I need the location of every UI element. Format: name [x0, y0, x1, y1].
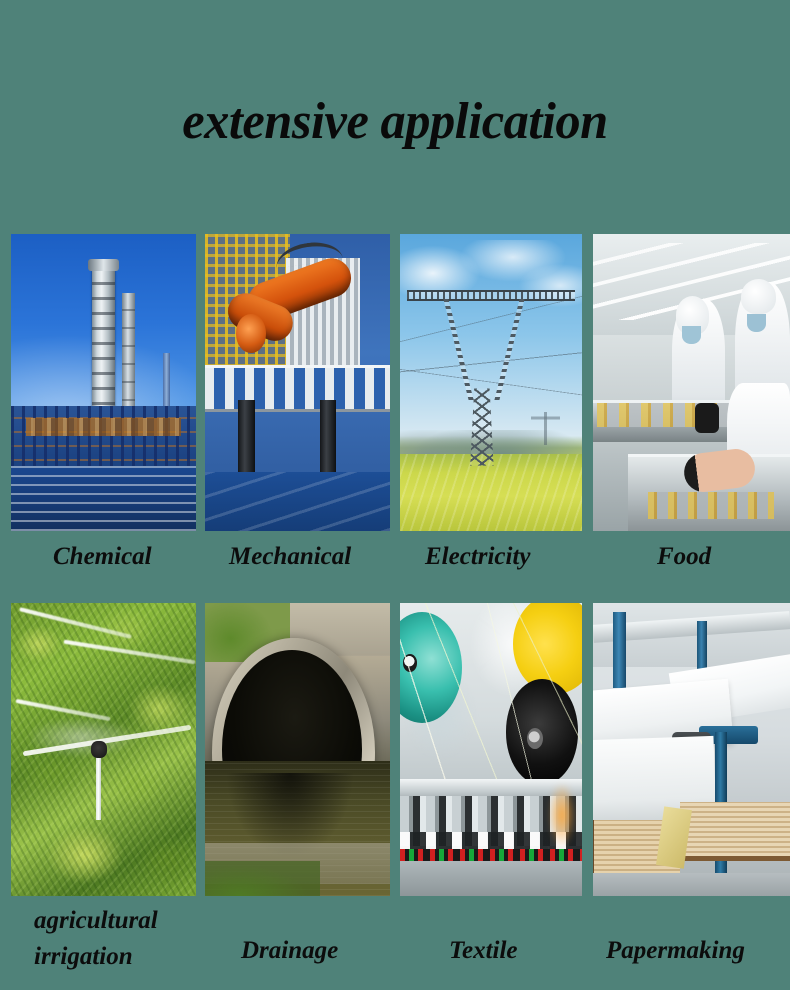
yarn-spools-machine-photo [400, 603, 582, 896]
conveyor-frame [205, 365, 390, 413]
lower-pipe-rack [11, 466, 196, 531]
robot-arm-assembly-photo [205, 234, 390, 531]
application-cell-textile[interactable]: Textile [400, 603, 582, 896]
machine-base [400, 861, 582, 896]
food-thumbnail[interactable] [593, 234, 790, 531]
caption-food: Food [657, 539, 711, 575]
caption-chemical: Chemical [53, 539, 152, 575]
blue-post-left [613, 612, 627, 688]
pylon-crossarm [407, 290, 574, 300]
application-cell-electricity[interactable]: Electricity [400, 234, 582, 531]
textile-thumbnail[interactable] [400, 603, 582, 896]
worker-mask-center [682, 326, 702, 344]
food-processing-line-photo [593, 234, 790, 531]
worker-hairnet-back [741, 279, 776, 315]
application-cell-chemical[interactable]: Chemical [11, 234, 196, 531]
sprinkler-head [91, 741, 108, 759]
caption-papermaking: Papermaking [606, 933, 745, 969]
grass-bottom [205, 861, 320, 896]
caption-electricity: Electricity [425, 539, 531, 575]
amber-indicator-glow [546, 785, 579, 861]
application-cell-agricultural-irrigation[interactable]: agricultural irrigation [11, 603, 196, 896]
paper-stack-cart-back [680, 802, 790, 861]
petrochemical-refinery-photo [11, 234, 196, 531]
distant-pylon [531, 412, 560, 445]
worker-mask-back [747, 314, 767, 332]
crop-sprinkler-irrigation-photo [11, 603, 196, 896]
mill-floor [593, 873, 790, 896]
robot-arm-joint [236, 314, 266, 353]
worker-sleeve-cuff [695, 403, 719, 433]
food-trays-lower [648, 492, 774, 519]
orange-pipe-rack [26, 418, 181, 436]
papermaking-thumbnail[interactable] [593, 603, 790, 896]
electricity-thumbnail[interactable] [400, 234, 582, 531]
sprinkler-riser-pipe [96, 755, 101, 819]
application-cell-mechanical[interactable]: Mechanical [205, 234, 390, 531]
caption-agricultural-irrigation: agricultural irrigation [34, 903, 158, 976]
application-cell-drainage[interactable]: Drainage [205, 603, 390, 896]
caption-textile: Textile [449, 933, 518, 969]
application-cell-papermaking[interactable]: Papermaking [593, 603, 790, 896]
application-cell-food[interactable]: Food [593, 234, 790, 531]
machine-base [205, 472, 390, 531]
page-title: extensive application [12, 96, 778, 148]
concrete-culvert-photo [205, 603, 390, 896]
agricultural-irrigation-thumbnail[interactable] [11, 603, 196, 896]
transmission-tower-photo [400, 234, 582, 531]
drainage-thumbnail[interactable] [205, 603, 390, 896]
caption-drainage: Drainage [241, 933, 338, 969]
caption-mechanical: Mechanical [229, 539, 351, 575]
paper-mill-sheets-photo [593, 603, 790, 896]
chemical-thumbnail[interactable] [11, 234, 196, 531]
mechanical-thumbnail[interactable] [205, 234, 390, 531]
